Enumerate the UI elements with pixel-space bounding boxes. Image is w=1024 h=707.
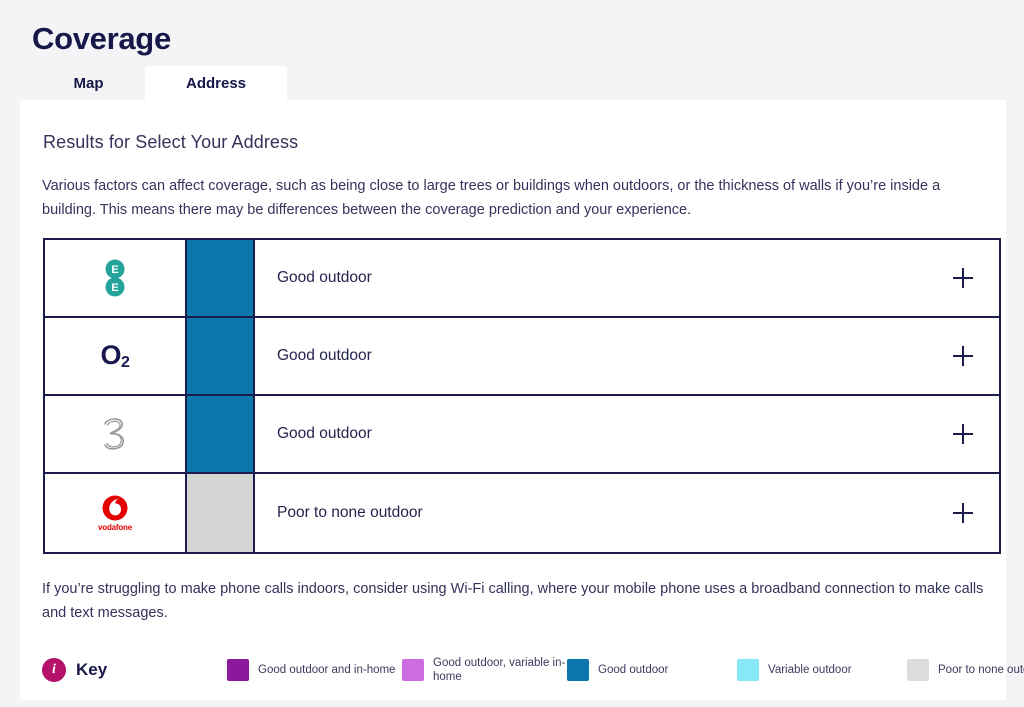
page-title: Coverage [32,20,171,58]
legend-item-label: Good outdoor and in-home [258,663,395,677]
legend-swatch [737,659,759,681]
coverage-key-legend: i Key Good outdoor and in-home Good outd… [42,650,1002,690]
wifi-calling-text: If you’re struggling to make phone calls… [42,577,997,625]
legend-item: Poor to none outdoor [907,659,1024,681]
tab-bar: Map Address [32,66,287,100]
legend-item: Good outdoor [567,659,737,681]
legend-item-label: Variable outdoor [768,663,852,677]
expand-row-button[interactable] [927,396,999,472]
results-heading: Results for Select Your Address [43,132,298,153]
coverage-swatch [187,396,255,472]
legend-key-group: i Key [42,658,227,682]
legend-item-label: Good outdoor, variable in-home [433,656,567,684]
table-row[interactable]: O2 Good outdoor [45,318,999,396]
ee-logo: E E [104,259,126,297]
o2-logo: O2 [101,342,130,371]
legend-item: Good outdoor, variable in-home [402,656,567,684]
operator-logo-cell [45,396,187,472]
coverage-intro-text: Various factors can affect coverage, suc… [42,174,987,222]
coverage-swatch [187,318,255,394]
operator-logo-cell: O2 [45,318,187,394]
vodafone-mark-icon [102,495,128,521]
table-row[interactable]: vodafone Poor to none outdoor [45,474,999,552]
tab-address[interactable]: Address [145,66,287,100]
coverage-page: Coverage Map Address Results for Select … [0,0,1024,707]
coverage-status: Good outdoor [255,396,927,472]
legend-swatch [907,659,929,681]
coverage-status: Good outdoor [255,240,927,316]
tab-map[interactable]: Map [32,66,145,100]
expand-row-button[interactable] [927,474,999,552]
three-logo [98,415,132,453]
operator-coverage-table: E E Good outdoor O2 Good outdoor [43,238,1001,554]
plus-icon [953,424,973,444]
svg-text:E: E [111,264,118,276]
legend-swatch [402,659,424,681]
legend-item: Good outdoor and in-home [227,659,402,681]
svg-text:E: E [111,282,118,294]
legend-swatch [567,659,589,681]
coverage-status: Poor to none outdoor [255,474,927,552]
expand-row-button[interactable] [927,318,999,394]
operator-logo-cell: E E [45,240,187,316]
operator-logo-cell: vodafone [45,474,187,552]
legend-item: Variable outdoor [737,659,907,681]
legend-swatch [227,659,249,681]
plus-icon [953,268,973,288]
results-card: Results for Select Your Address Various … [20,100,1006,700]
plus-icon [953,346,973,366]
coverage-swatch [187,240,255,316]
coverage-status: Good outdoor [255,318,927,394]
info-icon: i [42,658,66,682]
tab-address-label: Address [186,75,246,92]
legend-item-label: Poor to none outdoor [938,663,1024,677]
plus-icon [953,503,973,523]
expand-row-button[interactable] [927,240,999,316]
coverage-swatch [187,474,255,552]
legend-item-label: Good outdoor [598,663,668,677]
tab-map-label: Map [74,75,104,92]
table-row[interactable]: E E Good outdoor [45,240,999,318]
vodafone-wordmark: vodafone [98,523,132,532]
vodafone-logo: vodafone [98,495,132,532]
table-row[interactable]: Good outdoor [45,396,999,474]
legend-key-label: Key [76,660,107,680]
